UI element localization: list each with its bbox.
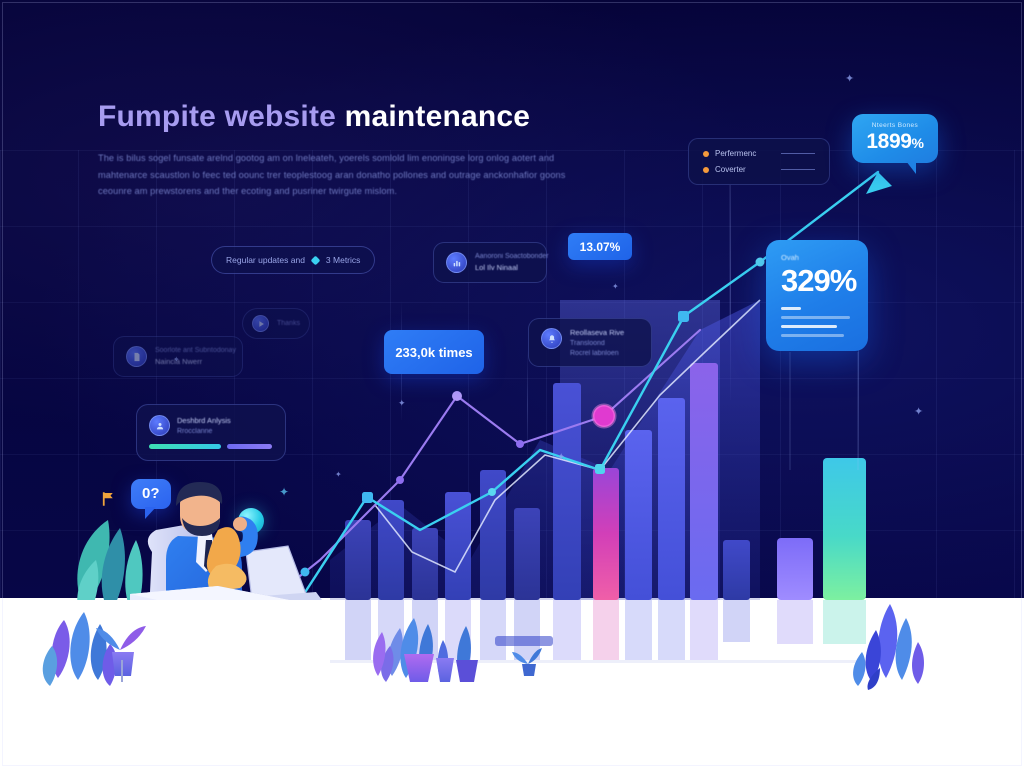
hero-illustration: ✦ ✦ ✦ ✦ ✦ ✦ ✦ ✦ ✦ ✦ Fumpite website main… bbox=[0, 0, 1024, 768]
plant-right-cluster bbox=[853, 604, 924, 690]
plant-center-cluster bbox=[373, 618, 542, 682]
floor-plants bbox=[0, 0, 1024, 768]
plant-left-cluster bbox=[43, 612, 146, 686]
